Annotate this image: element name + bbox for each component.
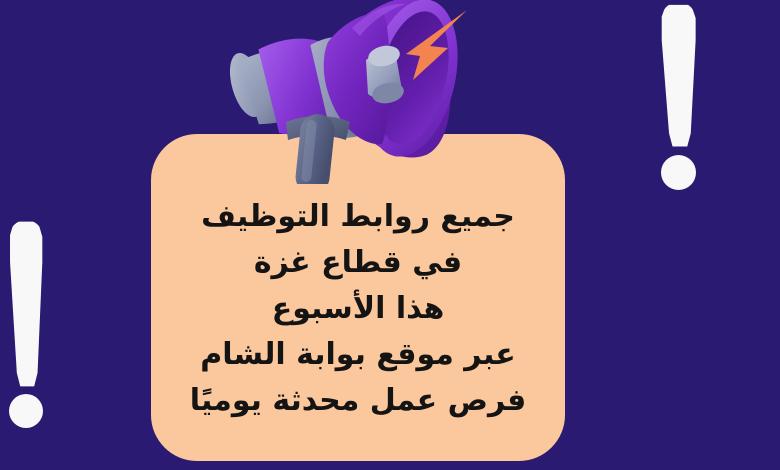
exclamation-stroke — [661, 2, 696, 148]
exclamation-stroke — [9, 220, 43, 388]
announcement-line-3: هذا الأسبوع — [165, 286, 551, 332]
poster-canvas: جميع روابط التوظيف في قطاع غزة هذا الأسب… — [0, 0, 780, 470]
lightning-bolt-icon — [404, 8, 476, 84]
announcement-text: جميع روابط التوظيف في قطاع غزة هذا الأسب… — [165, 194, 551, 424]
announcement-line-5: فرص عمل محدثة يوميًا — [165, 378, 551, 424]
exclamation-mark-icon-left — [4, 218, 50, 434]
announcement-card: جميع روابط التوظيف في قطاع غزة هذا الأسب… — [151, 134, 565, 461]
exclamation-mark-icon-right — [655, 0, 701, 196]
lightning-bolt-shape — [406, 10, 467, 80]
announcement-line-2: في قطاع غزة — [165, 240, 551, 286]
announcement-line-1: جميع روابط التوظيف — [165, 194, 551, 240]
exclamation-dot — [661, 155, 696, 190]
announcement-line-4: عبر موقع بوابة الشام — [165, 332, 551, 378]
exclamation-dot — [9, 394, 43, 428]
